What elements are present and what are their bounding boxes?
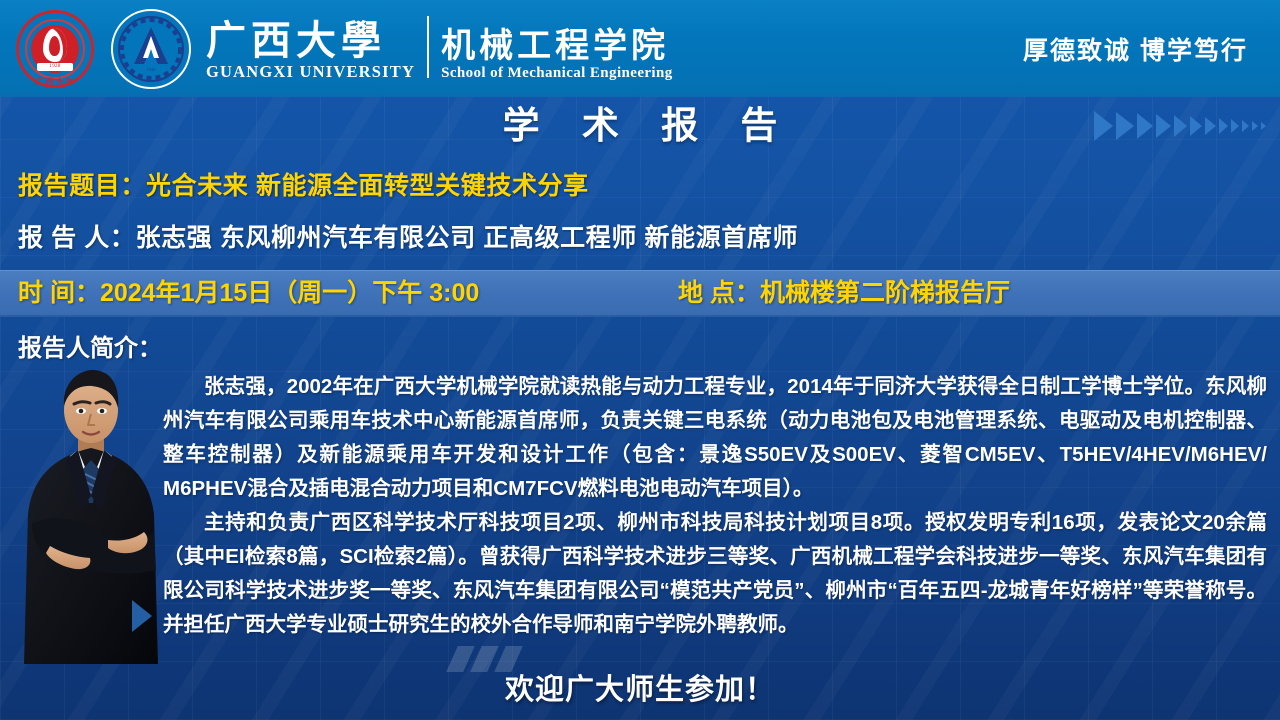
- main-title-band: 学 术 报 告: [0, 100, 1280, 152]
- welcome-message: 欢迎广大师生参加！: [0, 666, 1280, 708]
- time-place-strip: 时 间：2024年1月15日（周一）下午 3:00 地 点：机械楼第二阶梯报告厅: [0, 270, 1280, 317]
- bio-paragraph: 主持和负责广西区科学技术厅科技项目2项、柳州市科技局科技计划项目8项。授权发明专…: [163, 506, 1267, 642]
- lecture-time: 时 间：2024年1月15日（周一）下午 3:00: [18, 271, 479, 315]
- school-of-mechanical-engineering-seal-icon: 1928: [110, 8, 192, 90]
- wordmark-divider: [427, 16, 429, 78]
- speaker-bio-body: 张志强，2002年在广西大学机械学院就读热能与动力工程专业，2014年于同济大学…: [163, 370, 1267, 642]
- lecture-place: 地 点：机械楼第二阶梯报告厅: [678, 271, 1010, 315]
- academic-lecture-poster: 1928 广西大学 1928 广西大學 GUANGXI UNIVERSITY: [0, 0, 1280, 720]
- bio-paragraph: 张志强，2002年在广西大学机械学院就读热能与动力工程专业，2014年于同济大学…: [163, 370, 1267, 506]
- university-name-en: GUANGXI UNIVERSITY: [206, 62, 415, 82]
- lecture-topic: 报告题目：光合未来 新能源全面转型关键技术分享: [18, 166, 589, 202]
- lecture-speaker: 报 告 人：张志强 东风柳州汽车有限公司 正高级工程师 新能源首席师: [18, 218, 798, 254]
- seal-year: 1928: [37, 63, 73, 71]
- school-name-cn: 机械工程学院: [441, 29, 673, 65]
- seal-university-cn: 广西大学: [14, 75, 96, 88]
- svg-text:1928: 1928: [146, 67, 156, 72]
- university-name-cn: 广西大學: [206, 20, 415, 62]
- header-wordmark: 广西大學 GUANGXI UNIVERSITY 机械工程学院 School of…: [206, 16, 673, 82]
- school-name-en: School of Mechanical Engineering: [441, 65, 673, 82]
- small-chevron-decoration: [132, 600, 152, 632]
- guangxi-university-seal-icon: 1928 广西大学: [14, 8, 96, 90]
- poster-header: 1928 广西大学 1928 广西大學 GUANGXI UNIVERSITY: [0, 0, 1280, 97]
- page-title: 学 术 报 告: [0, 100, 1280, 152]
- chevron-decoration: [1094, 107, 1266, 145]
- university-motto: 厚德致诚 博学笃行: [1023, 31, 1262, 67]
- speaker-bio-label: 报告人简介：: [18, 328, 162, 363]
